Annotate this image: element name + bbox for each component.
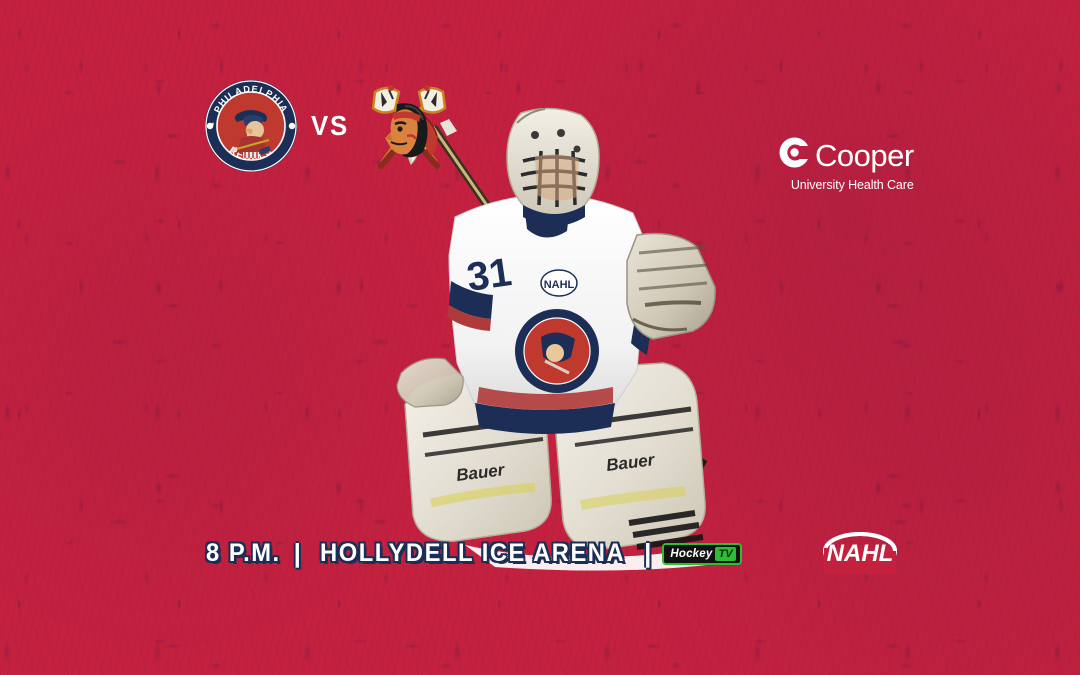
gameday-row-2-right: DAY	[732, 281, 899, 380]
warrior-tomahawk-logo	[361, 78, 457, 174]
hockeytv-badge[interactable]: Hockey TV	[662, 543, 741, 565]
cooper-sponsor-logo: Cooper University Health Care	[778, 136, 914, 192]
nahl-logo: NAHL	[822, 528, 898, 574]
info-divider-1: |	[294, 538, 301, 569]
jersey-crest	[515, 309, 599, 393]
jersey-number: 31	[464, 250, 514, 300]
goalie-catcher-glove	[397, 358, 463, 407]
hockeytv-word: Hockey	[670, 548, 712, 560]
event-time: 8 P.M.	[206, 539, 281, 568]
nahl-wordmark: NAHL	[827, 540, 894, 567]
philadelphia-rebels-logo: PHILADELPHIA REBELS	[203, 78, 299, 174]
cooper-tagline: University Health Care	[778, 178, 914, 192]
cooper-wordmark: Cooper	[815, 140, 914, 171]
event-info-bar: 8 P.M. | HOLLYDELL ICE ARENA | Hockey TV	[204, 538, 742, 569]
goalie-player-photo: Bauer Bauer	[345, 105, 745, 575]
goalie-blocker	[627, 234, 715, 340]
gameday-row-1-right: DAY	[732, 190, 899, 289]
matchup-bar: PHILADELPHIA REBELS	[203, 78, 457, 174]
info-divider-2: |	[644, 538, 651, 569]
svg-text:NAHL: NAHL	[544, 279, 575, 291]
vs-label: VS	[301, 110, 358, 142]
hockeytv-tv-tag: TV	[715, 547, 735, 561]
event-venue: HOLLYDELL ICE ARENA	[320, 539, 625, 568]
cooper-c-icon	[778, 136, 811, 174]
gameday-graphic: Bauer Bauer	[0, 0, 1080, 675]
gameday-row-3-right: DAY	[732, 372, 899, 471]
